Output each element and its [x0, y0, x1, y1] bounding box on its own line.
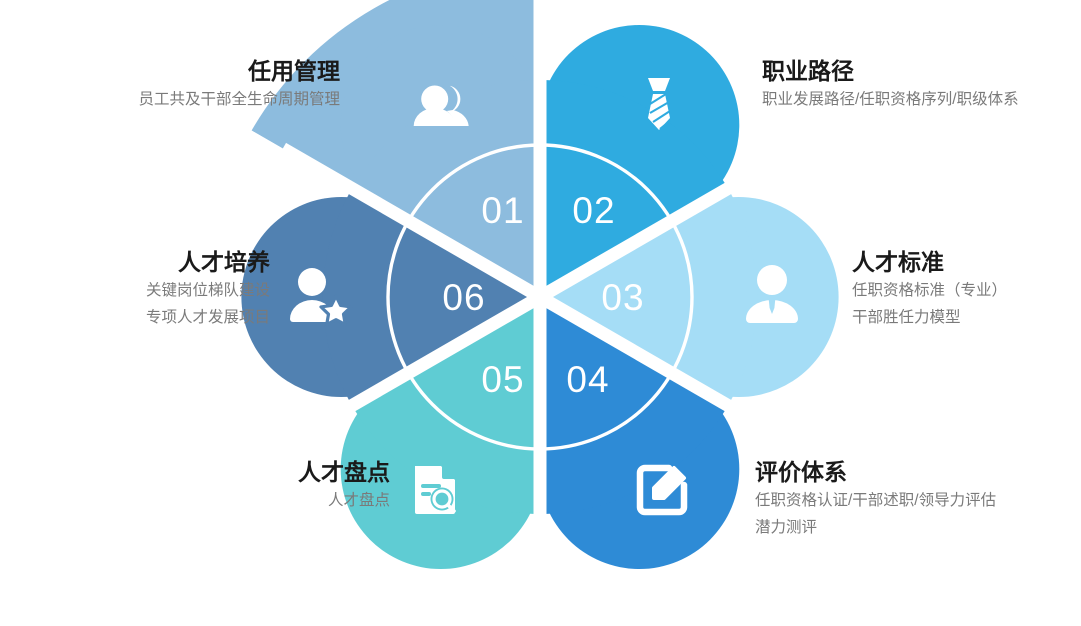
- label-05-sub-0: 人才盘点: [160, 487, 390, 514]
- label-04-sub-0: 任职资格认证/干部述职/领导力评估: [755, 487, 1081, 514]
- label-05-title: 人才盘点: [160, 458, 390, 487]
- label-04-sub-1: 潜力测评: [755, 514, 1081, 541]
- label-03-sub-0: 任职资格标准（专业）: [852, 277, 1081, 304]
- diagram-canvas: 01 02 03 04 05 06: [0, 0, 1081, 626]
- label-04-title: 评价体系: [755, 458, 1081, 487]
- label-block-03: 人才标准 任职资格标准（专业） 干部胜任力模型: [852, 248, 1081, 331]
- label-block-05: 人才盘点 人才盘点: [160, 458, 390, 514]
- petal-05-number: 05: [481, 359, 524, 400]
- petal-03-number: 03: [601, 277, 644, 318]
- label-block-01: 任用管理 员工共及干部全生命周期管理: [20, 57, 340, 113]
- label-block-02: 职业路径 职业发展路径/任职资格序列/职级体系: [762, 57, 1081, 113]
- label-block-06: 人才培养 关键岗位梯队建设 专项人才发展项目: [20, 248, 270, 331]
- petal-04-number: 04: [566, 359, 609, 400]
- label-03-sub-1: 干部胜任力模型: [852, 304, 1081, 331]
- label-01-sub-0: 员工共及干部全生命周期管理: [20, 86, 340, 113]
- document-search-icon: [415, 466, 455, 514]
- label-02-sub-0: 职业发展路径/任职资格序列/职级体系: [762, 86, 1081, 113]
- label-02-title: 职业路径: [762, 57, 1081, 86]
- label-06-sub-0: 关键岗位梯队建设: [20, 277, 270, 304]
- petal-02-number: 02: [572, 190, 615, 231]
- label-06-sub-1: 专项人才发展项目: [20, 304, 270, 331]
- petal-01-number: 01: [481, 190, 524, 231]
- petal-06-number: 06: [442, 277, 485, 318]
- label-block-04: 评价体系 任职资格认证/干部述职/领导力评估 潜力测评: [755, 458, 1081, 541]
- label-06-title: 人才培养: [20, 248, 270, 277]
- label-01-title: 任用管理: [20, 57, 340, 86]
- label-03-title: 人才标准: [852, 248, 1081, 277]
